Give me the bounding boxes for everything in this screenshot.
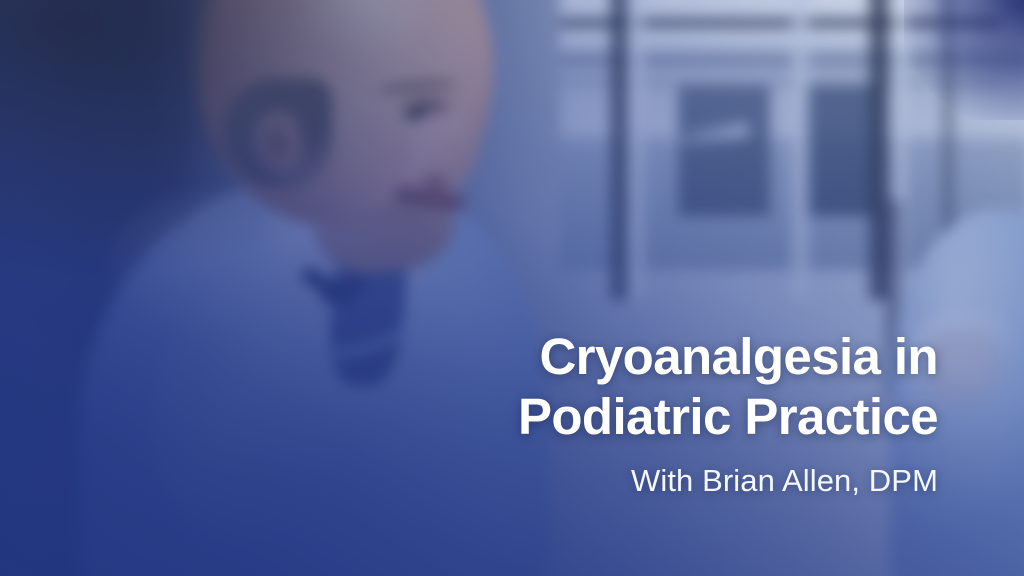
title-line-1: Cryoanalgesia in <box>298 327 938 387</box>
video-title-card: Cryoanalgesia in Podiatric Practice With… <box>0 0 1024 576</box>
presenter-subtitle: With Brian Allen, DPM <box>298 461 938 501</box>
top-right-tint-overlay <box>904 0 1024 120</box>
title-text-block: Cryoanalgesia in Podiatric Practice With… <box>298 327 938 501</box>
title-line-2: Podiatric Practice <box>298 387 938 447</box>
